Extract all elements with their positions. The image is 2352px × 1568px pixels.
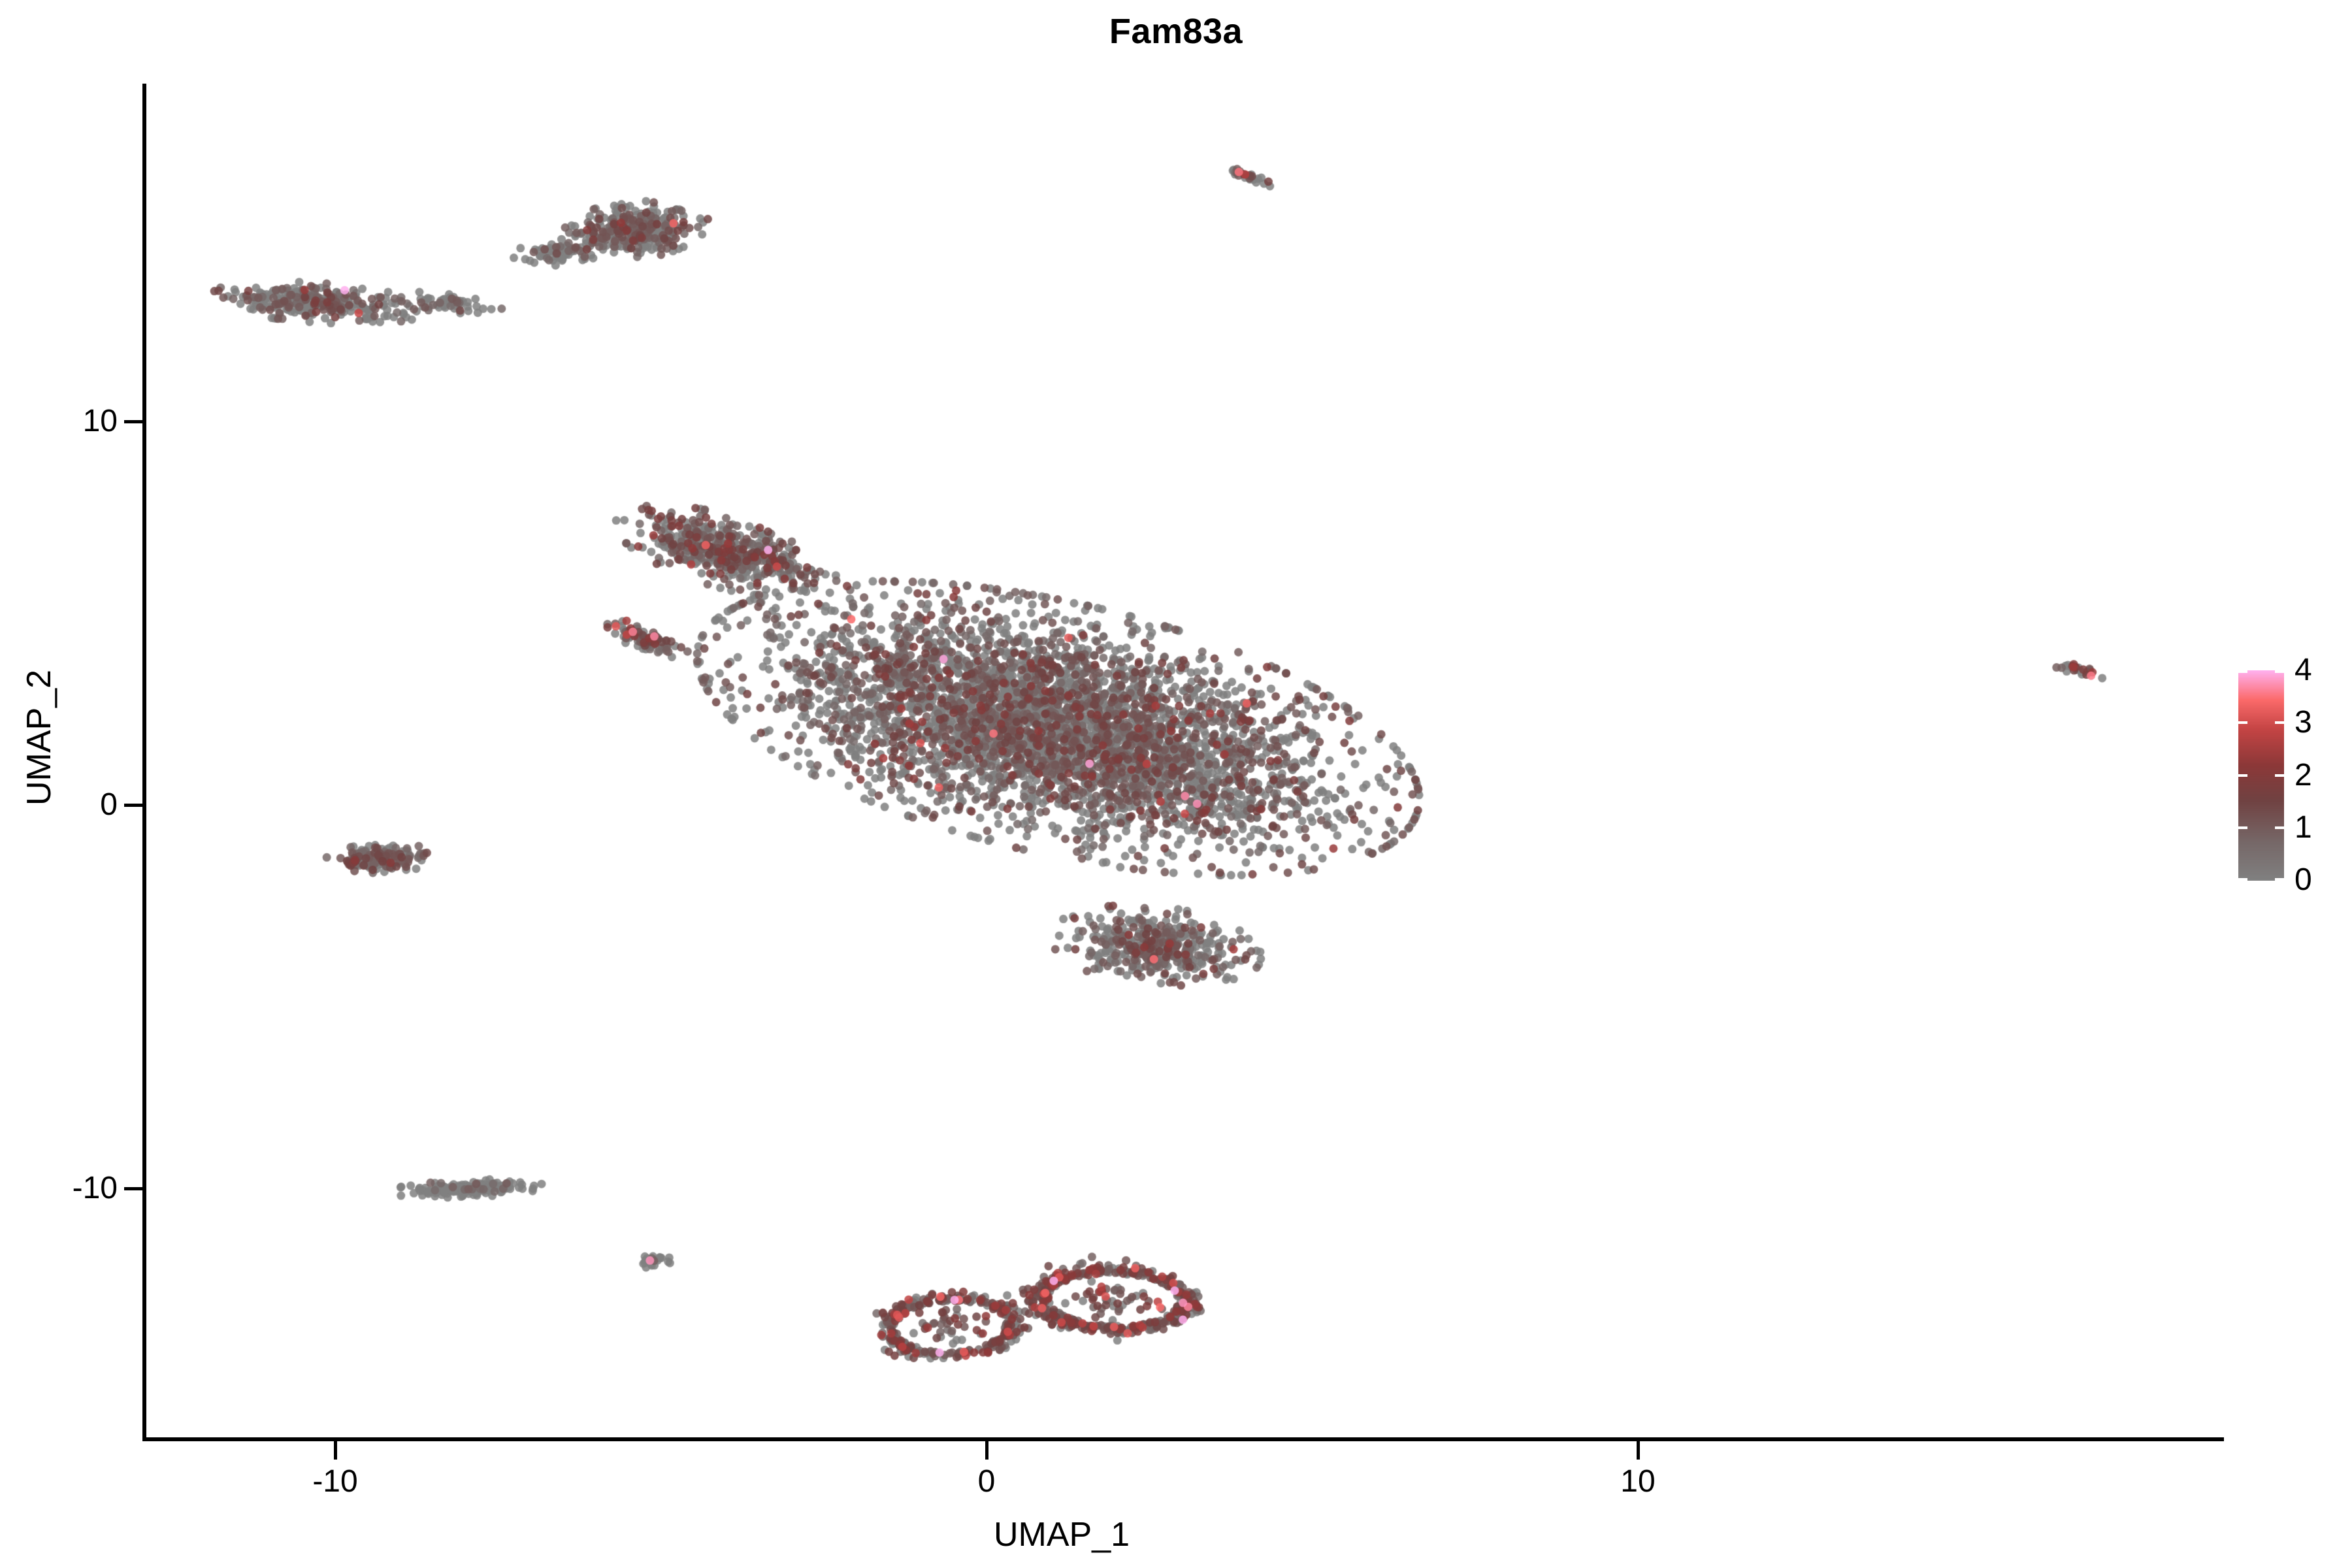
colorbar-tick-mark: [2275, 670, 2284, 673]
x-tick-mark: [985, 1441, 988, 1460]
y-tick-mark: [124, 804, 142, 807]
colorbar-tick-mark: [2238, 670, 2247, 673]
colorbar-tick-label: 1: [2295, 812, 2312, 843]
y-axis-title: UMAP_2: [20, 509, 58, 966]
x-tick-mark: [334, 1441, 337, 1460]
x-tick-label: 10: [1573, 1466, 1703, 1497]
y-tick-label: -10: [73, 1173, 118, 1204]
colorbar-tick-mark: [2275, 878, 2284, 881]
colorbar-tick-mark: [2238, 774, 2247, 777]
feature-plot-figure: Fam83a 100-10 -10010 UMAP_1 UMAP_2 43210: [0, 0, 2352, 1568]
x-tick-label: 0: [921, 1466, 1052, 1497]
scatter-plot-panel[interactable]: [145, 85, 2223, 1439]
colorbar-tick-label: 2: [2295, 760, 2312, 791]
x-tick-mark: [1637, 1441, 1640, 1460]
page-title: Fam83a: [0, 12, 2352, 51]
y-tick-mark: [124, 420, 142, 423]
colorbar-tick-mark: [2238, 826, 2247, 829]
colorbar-tick-mark: [2275, 826, 2284, 829]
y-tick-mark: [124, 1187, 142, 1190]
x-tick-label: -10: [270, 1466, 400, 1497]
colorbar-tick-mark: [2238, 878, 2247, 881]
y-axis-line: [142, 84, 146, 1441]
x-axis-line: [142, 1437, 2224, 1441]
y-tick-label: 0: [100, 789, 118, 821]
y-tick-label: 10: [83, 406, 118, 437]
colorbar-tick-label: 3: [2295, 707, 2312, 738]
x-axis-title: UMAP_1: [0, 1516, 2123, 1554]
colorbar-tick-mark: [2275, 721, 2284, 724]
colorbar-tick-label: 4: [2295, 655, 2312, 686]
scatter-points-canvas[interactable]: [145, 85, 2223, 1439]
colorbar-tick-mark: [2275, 774, 2284, 777]
colorbar-tick-mark: [2238, 721, 2247, 724]
colorbar-legend[interactable]: 43210: [2238, 670, 2343, 881]
colorbar-tick-label: 0: [2295, 864, 2312, 896]
